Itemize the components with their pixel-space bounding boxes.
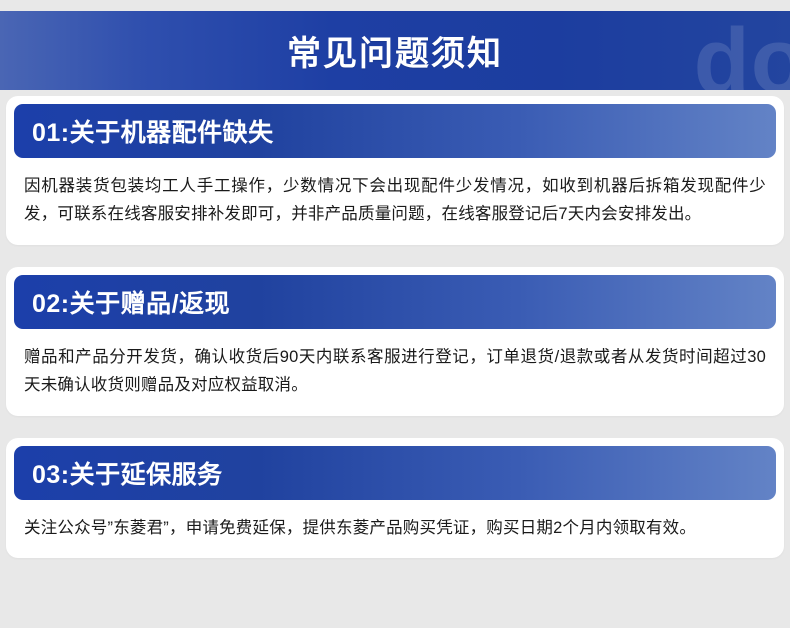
faq-card-title: 01:关于机器配件缺失 xyxy=(32,113,274,149)
faq-section-list: 01:关于机器配件缺失 因机器装货包装均工人手工操作，少数情况下会出现配件少发情… xyxy=(0,96,790,580)
faq-card: 01:关于机器配件缺失 因机器装货包装均工人手工操作，少数情况下会出现配件少发情… xyxy=(6,96,784,245)
brand-watermark-text: do xyxy=(694,15,790,90)
page-banner: do 常见问题须知 xyxy=(0,11,790,90)
page-title: 常见问题须知 xyxy=(287,26,503,75)
faq-card-header: 02:关于赠品/返现 xyxy=(14,275,776,329)
faq-card: 03:关于延保服务 关注公众号”东菱君”，申请免费延保，提供东菱产品购买凭证，购… xyxy=(6,438,784,558)
faq-card-body: 因机器装货包装均工人手工操作，少数情况下会出现配件少发情况，如收到机器后拆箱发现… xyxy=(6,158,784,231)
faq-card-header: 01:关于机器配件缺失 xyxy=(14,104,776,158)
faq-card-body: 赠品和产品分开发货，确认收货后90天内联系客服进行登记，订单退货/退款或者从发货… xyxy=(6,329,784,402)
faq-card: 02:关于赠品/返现 赠品和产品分开发货，确认收货后90天内联系客服进行登记，订… xyxy=(6,267,784,416)
faq-card-header: 03:关于延保服务 xyxy=(14,446,776,500)
faq-card-title: 03:关于延保服务 xyxy=(32,455,223,491)
faq-card-title: 02:关于赠品/返现 xyxy=(32,284,230,320)
faq-card-body: 关注公众号”东菱君”，申请免费延保，提供东菱产品购买凭证，购买日期2个月内领取有… xyxy=(6,500,784,544)
